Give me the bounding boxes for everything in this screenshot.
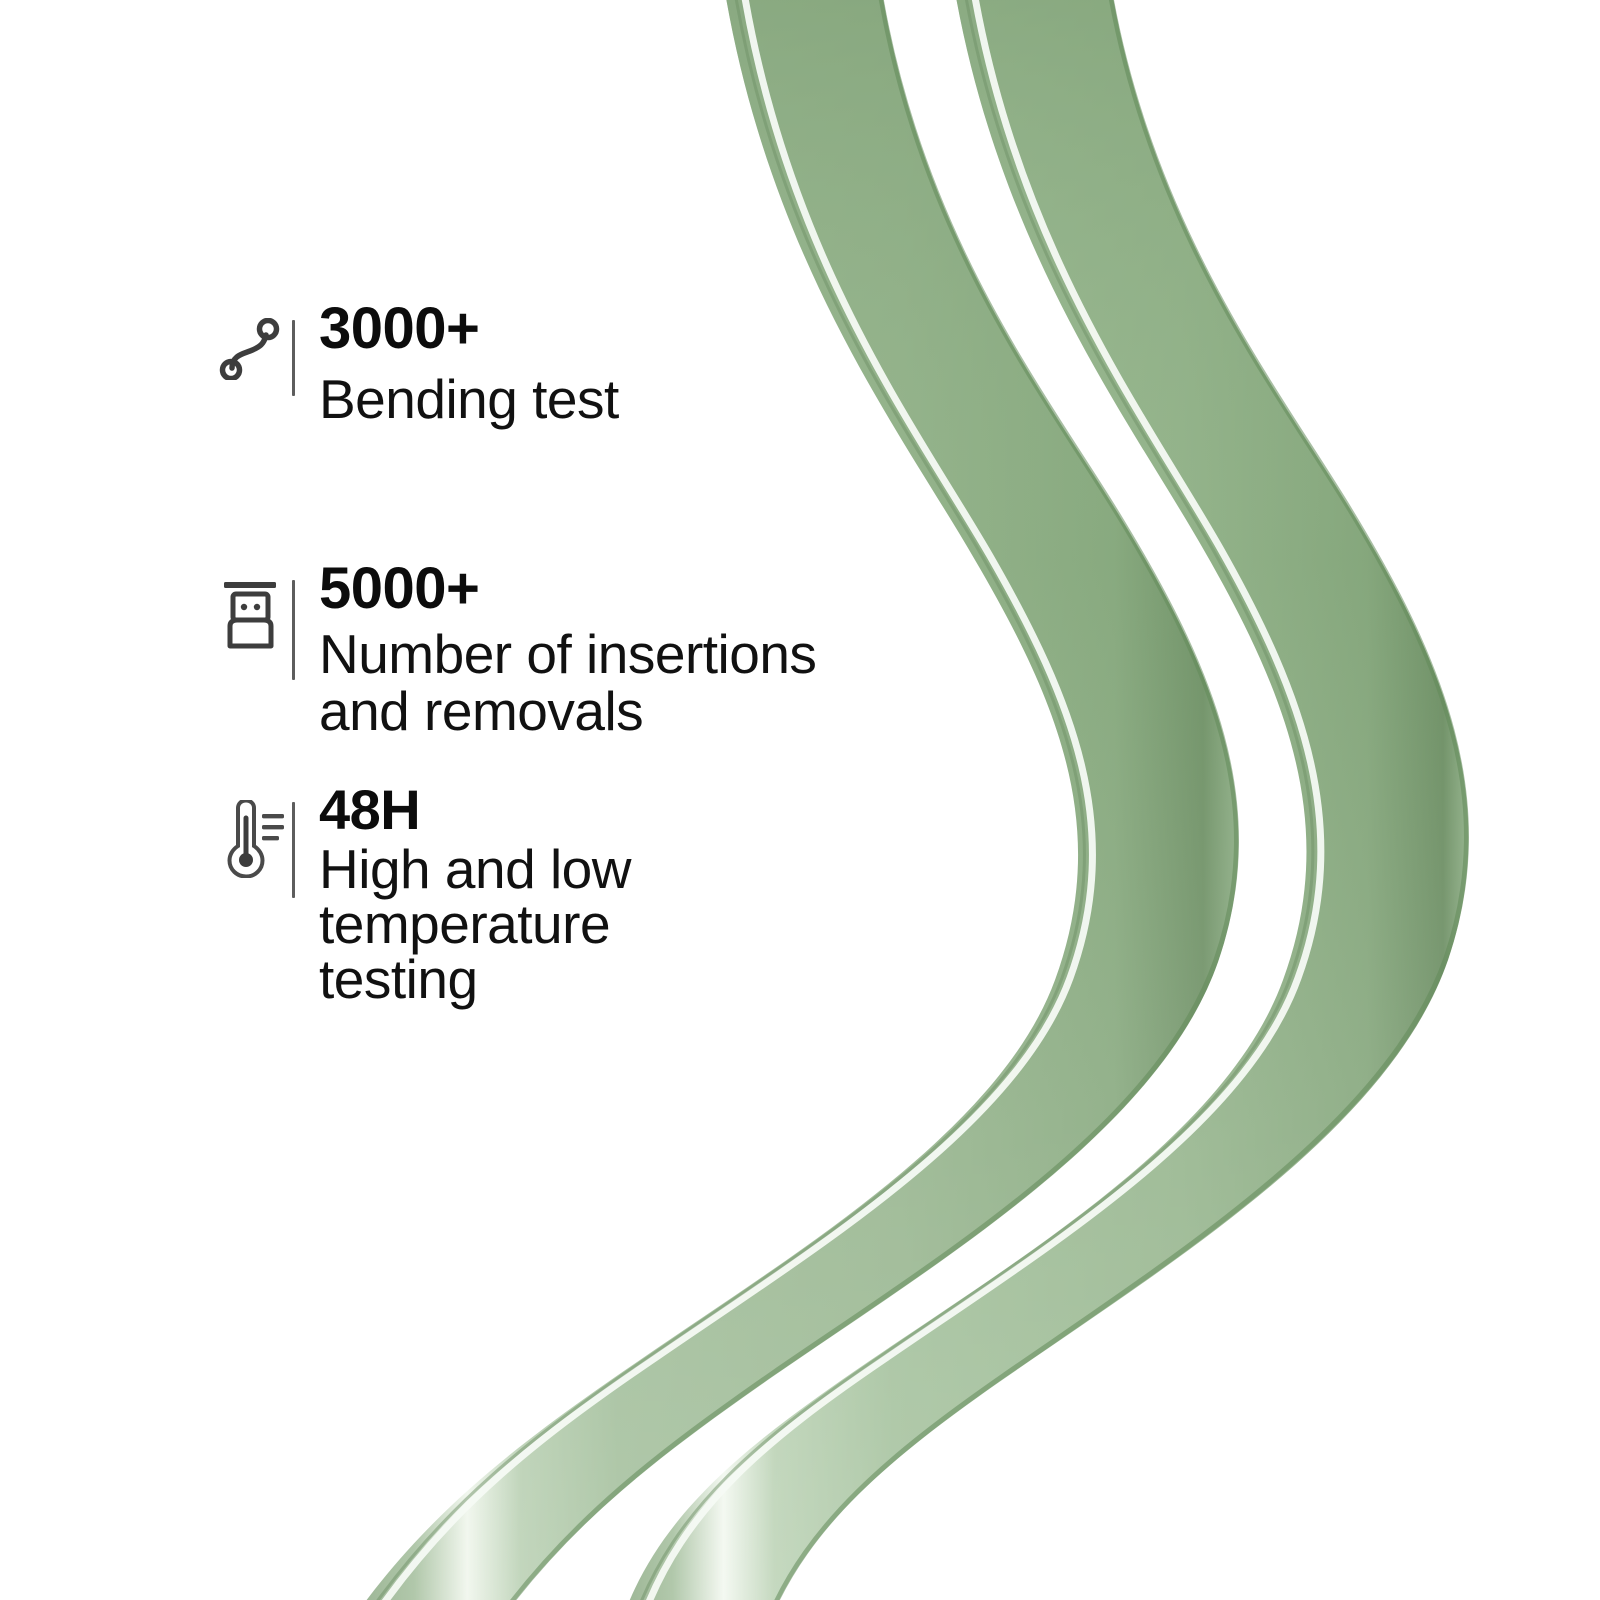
metric-caption: Number of insertions and removals <box>319 626 816 740</box>
feature-item-temperature: 48H High and low temperature testing <box>218 782 631 1007</box>
caption-line: High and low <box>319 842 631 897</box>
caption-line: temperature <box>319 897 631 952</box>
caption-line: and removals <box>319 683 816 740</box>
metric-caption: Bending test <box>319 370 619 429</box>
metric-value: 5000+ <box>319 560 816 618</box>
usb-plug-icon <box>218 560 290 646</box>
caption-line: testing <box>319 952 631 1007</box>
metric-value: 48H <box>319 782 631 838</box>
bending-cable-icon <box>218 300 290 386</box>
metric-caption: High and low temperature testing <box>319 842 631 1007</box>
feature-text: 5000+ Number of insertions and removals <box>295 560 816 740</box>
feature-text: 3000+ Bending test <box>295 300 619 429</box>
caption-line: Number of insertions <box>319 626 816 683</box>
metric-value: 3000+ <box>319 300 619 358</box>
caption-line: Bending test <box>319 370 619 429</box>
feature-item-insertions: 5000+ Number of insertions and removals <box>218 560 816 740</box>
infographic-canvas: 3000+ Bending test 5000+ <box>0 0 1600 1600</box>
feature-text: 48H High and low temperature testing <box>295 782 631 1007</box>
thermometer-icon <box>218 782 290 868</box>
feature-item-bending-test: 3000+ Bending test <box>218 300 619 429</box>
